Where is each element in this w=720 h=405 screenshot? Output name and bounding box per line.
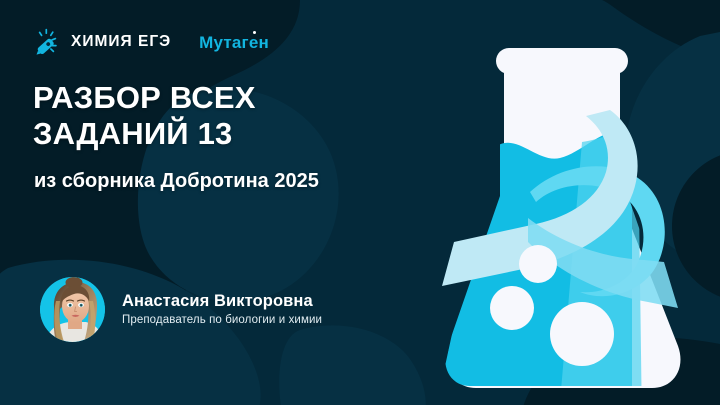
flask-bubble-small-top	[519, 245, 557, 283]
presentation-slide: ХИМИЯ ЕГЭ Мутаген РАЗБОР ВСЕХ ЗАДАНИЙ 13…	[0, 0, 720, 405]
presenter-text: Анастасия Викторовна Преподаватель по би…	[122, 293, 322, 327]
page-subtitle: из сборника Добротина 2025	[34, 170, 319, 193]
avatar	[40, 277, 105, 342]
presenter-role: Преподаватель по биологии и химии	[122, 315, 322, 327]
brand-logo-row[interactable]: ХИМИЯ ЕГЭ Мутаген	[32, 28, 269, 56]
flask-rim	[496, 48, 628, 74]
logo-wordmark: ХИМИЯ ЕГЭ	[71, 34, 171, 50]
presenter-name: Анастасия Викторовна	[122, 293, 322, 310]
page-title: РАЗБОР ВСЕХ ЗАДАНИЙ 13	[33, 80, 256, 152]
flask-bubble-large	[550, 302, 614, 366]
presenter-block: Анастасия Викторовна Преподаватель по би…	[40, 277, 322, 342]
brand-name[interactable]: Мутаген	[199, 34, 269, 51]
avatar-photo	[40, 277, 105, 342]
brand-name-text: Мутаген	[199, 33, 269, 52]
flask-bubble-small-left	[490, 286, 534, 330]
chemistry-flask-illustration	[432, 46, 720, 405]
pipette-sparkle-icon	[32, 28, 60, 56]
